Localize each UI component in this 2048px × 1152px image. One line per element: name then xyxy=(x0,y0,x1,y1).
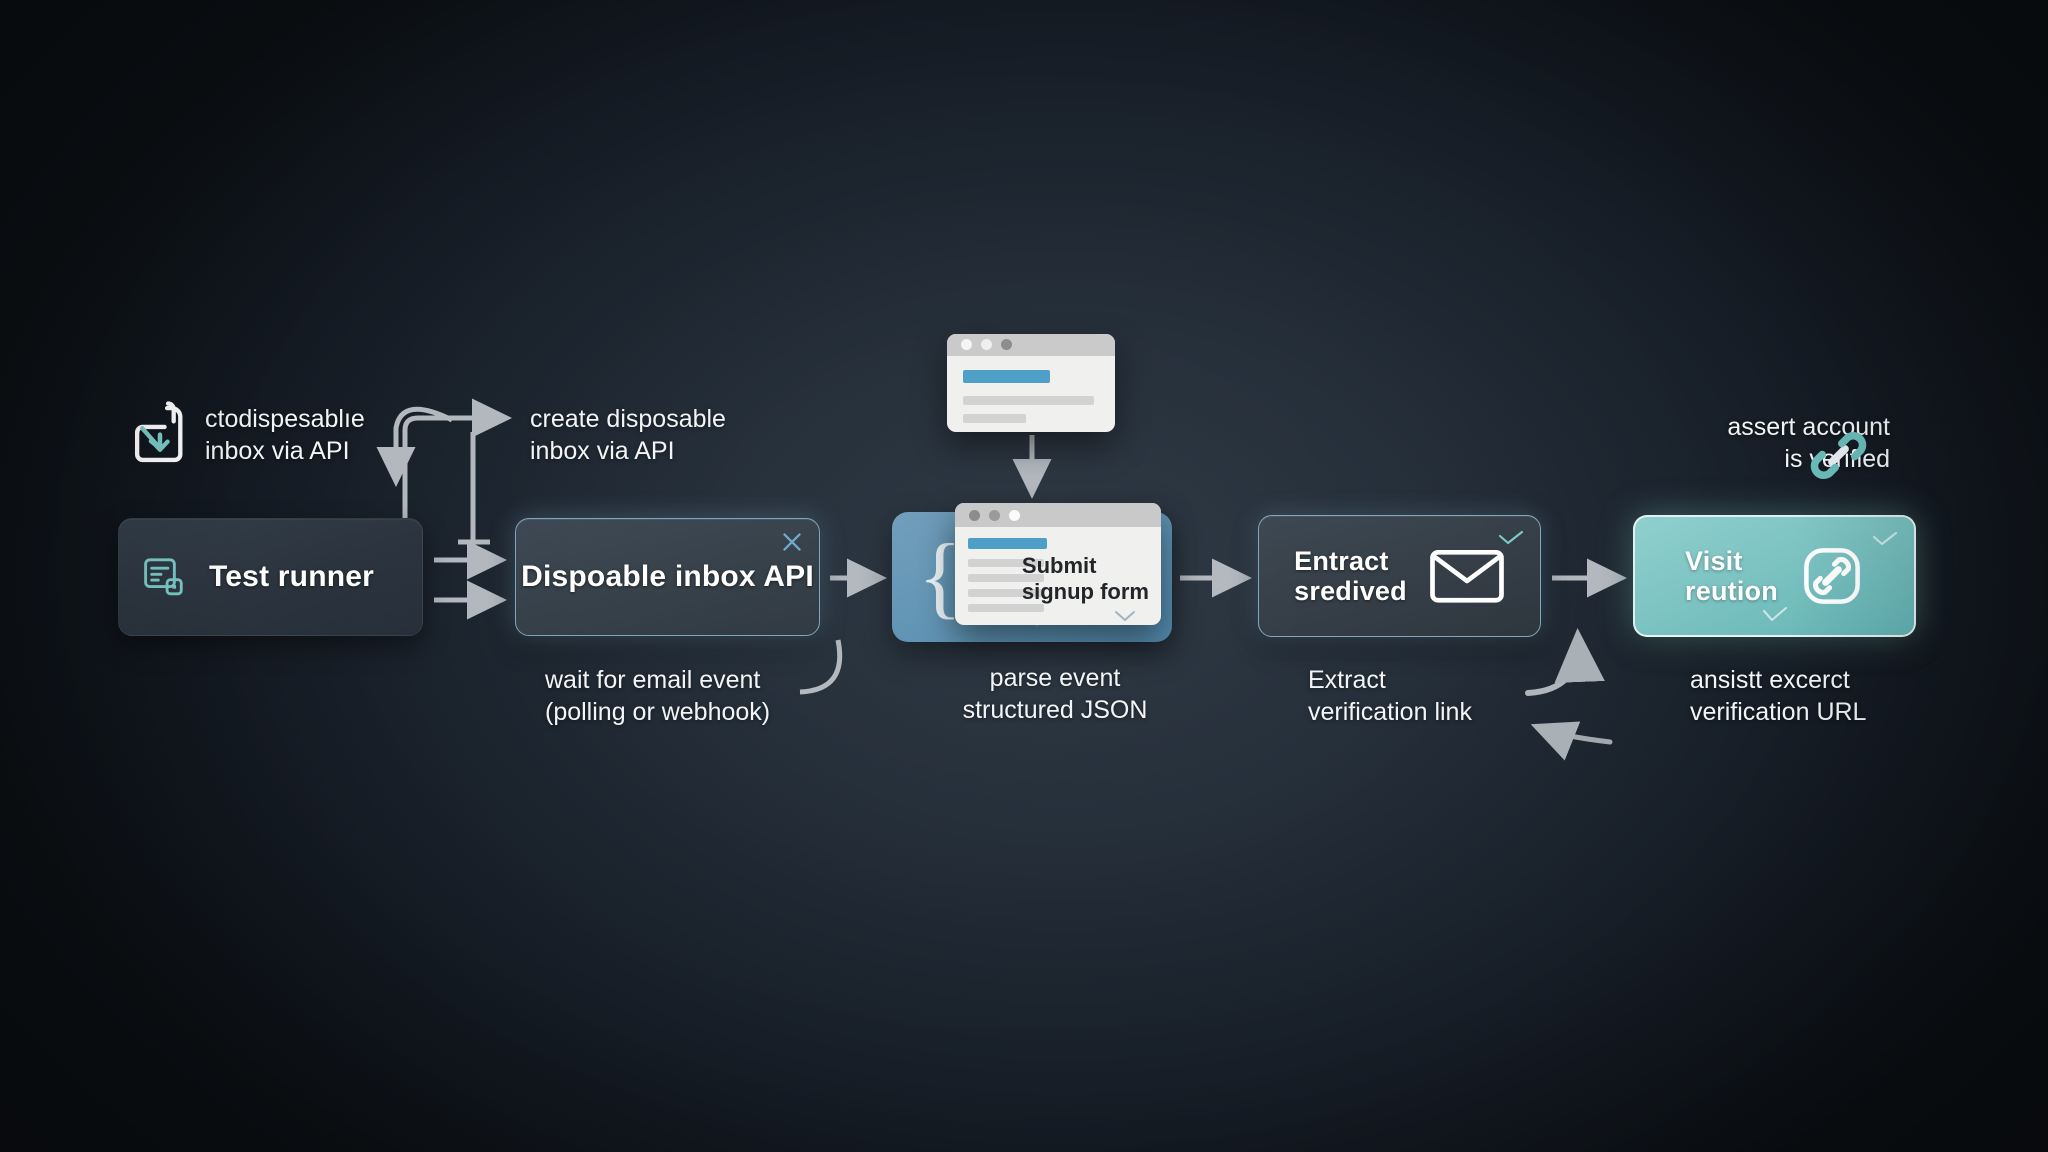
node-visit-label: Visit reution xyxy=(1685,546,1778,606)
node-visit-verification-url[interactable]: Visit reution xyxy=(1633,515,1916,637)
window-dot xyxy=(1009,510,1020,521)
node-inbox-api[interactable]: Dispoable inbox API xyxy=(515,518,820,636)
node-extract-received[interactable]: Entract sredived xyxy=(1258,515,1541,637)
email-preview-window xyxy=(947,334,1115,432)
check-icon xyxy=(1762,607,1788,623)
annotation-assert-url: ansistt excerct verification URL xyxy=(1690,665,1970,728)
content-bar-highlight xyxy=(963,370,1050,383)
envelope-icon xyxy=(1429,548,1505,604)
check-icon xyxy=(1498,530,1524,546)
annotation-inbox-caption: ctodispesablıe inbox via API xyxy=(205,404,435,467)
edge-testrunner-to-inboxapi xyxy=(434,560,500,600)
window-titlebar xyxy=(947,334,1115,356)
diagram-canvas: Test runner Dispoable inbox API { Entrac… xyxy=(0,0,2048,1152)
annotation-create-inbox: create disposable inbox via API xyxy=(530,404,830,467)
content-bar xyxy=(963,396,1094,405)
annotation-extract-link: Extract verification link xyxy=(1308,665,1568,728)
close-x-icon[interactable] xyxy=(779,529,805,555)
test-document-icon xyxy=(141,554,187,600)
window-dot xyxy=(961,339,972,350)
annotation-wait-email: wait for email event (polling or webhook… xyxy=(545,665,845,728)
check-icon xyxy=(1872,531,1898,547)
chevron-down-icon xyxy=(1113,610,1137,623)
annotation-parse-json: parse event structured JSON xyxy=(930,663,1180,726)
window-body xyxy=(947,356,1115,432)
window-dot xyxy=(981,339,992,350)
signup-form-window[interactable]: Submit signup form xyxy=(955,503,1161,625)
content-bar xyxy=(968,604,1044,612)
link-rounded-icon xyxy=(1800,544,1864,608)
submit-signup-form-text: Submit signup form xyxy=(1022,553,1149,604)
node-inbox-api-label: Dispoable inbox API xyxy=(521,560,814,594)
node-test-runner[interactable]: Test runner xyxy=(118,518,423,636)
content-bar xyxy=(963,414,1026,423)
window-dot xyxy=(969,510,980,521)
node-test-runner-label: Test runner xyxy=(209,560,374,594)
edge-back-to-extract xyxy=(1540,728,1610,742)
window-titlebar xyxy=(955,503,1161,527)
inbox-download-icon xyxy=(130,398,192,464)
node-extract-label: Entract sredived xyxy=(1294,546,1407,606)
window-dot xyxy=(989,510,1000,521)
window-body: Submit signup form xyxy=(955,527,1161,625)
chain-link-icon xyxy=(1808,425,1868,485)
content-bar-highlight xyxy=(968,538,1047,549)
window-dot xyxy=(1001,339,1012,350)
